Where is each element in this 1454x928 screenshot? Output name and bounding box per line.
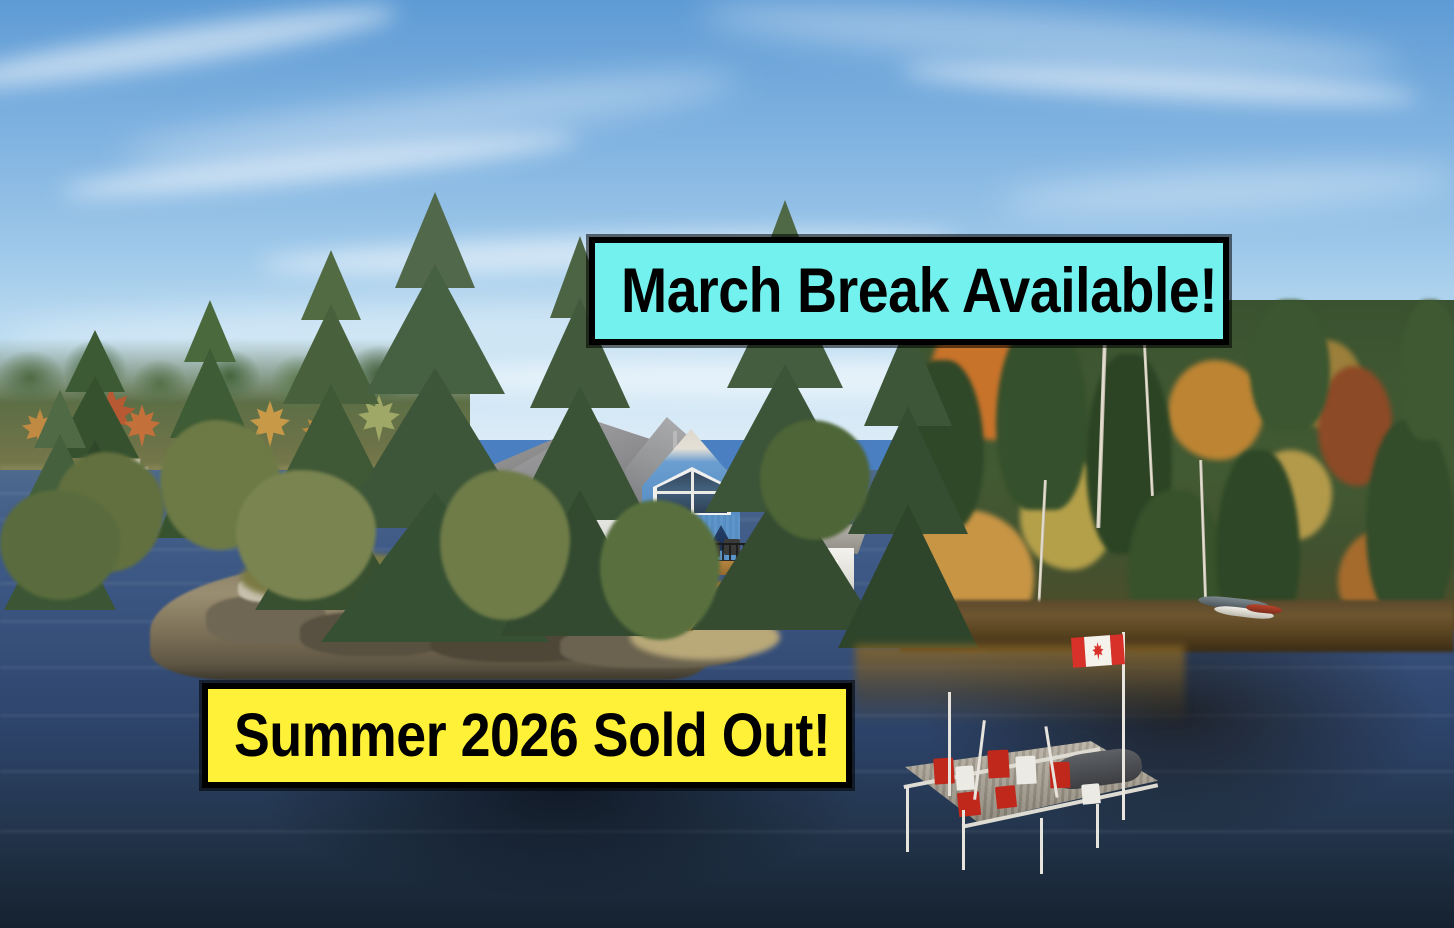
adirondack-chair-white	[1081, 783, 1101, 804]
stored-canoes	[1198, 596, 1288, 620]
dock-pole	[906, 786, 909, 852]
right-forest	[900, 300, 1454, 630]
banner-march-break-text: March Break Available!	[621, 260, 1217, 323]
adirondack-chair-red	[987, 749, 1009, 778]
adirondack-chair-red	[957, 791, 981, 817]
evergreen	[1400, 300, 1454, 440]
dock-pole	[962, 810, 965, 870]
floating-dock	[900, 700, 1180, 860]
evergreen	[1250, 300, 1330, 430]
cottage-listing-photo: March Break Available! Summer 2026 Sold …	[0, 0, 1454, 928]
adirondack-chair-red	[995, 785, 1017, 809]
banner-summer-sold-out[interactable]: Summer 2026 Sold Out!	[202, 683, 852, 788]
canadian-flag	[1071, 634, 1125, 668]
evergreen	[1366, 420, 1454, 620]
dock-pole	[1096, 804, 1099, 848]
dock-pole	[948, 692, 951, 796]
adirondack-chair-white	[1015, 755, 1036, 784]
banner-summer-sold-out-text: Summer 2026 Sold Out!	[234, 705, 830, 766]
dock-pole	[1040, 818, 1043, 874]
adirondack-chair-white	[955, 765, 975, 790]
banner-march-break[interactable]: March Break Available!	[589, 237, 1229, 345]
adirondack-chair-red	[933, 757, 955, 784]
evergreen	[996, 320, 1088, 510]
